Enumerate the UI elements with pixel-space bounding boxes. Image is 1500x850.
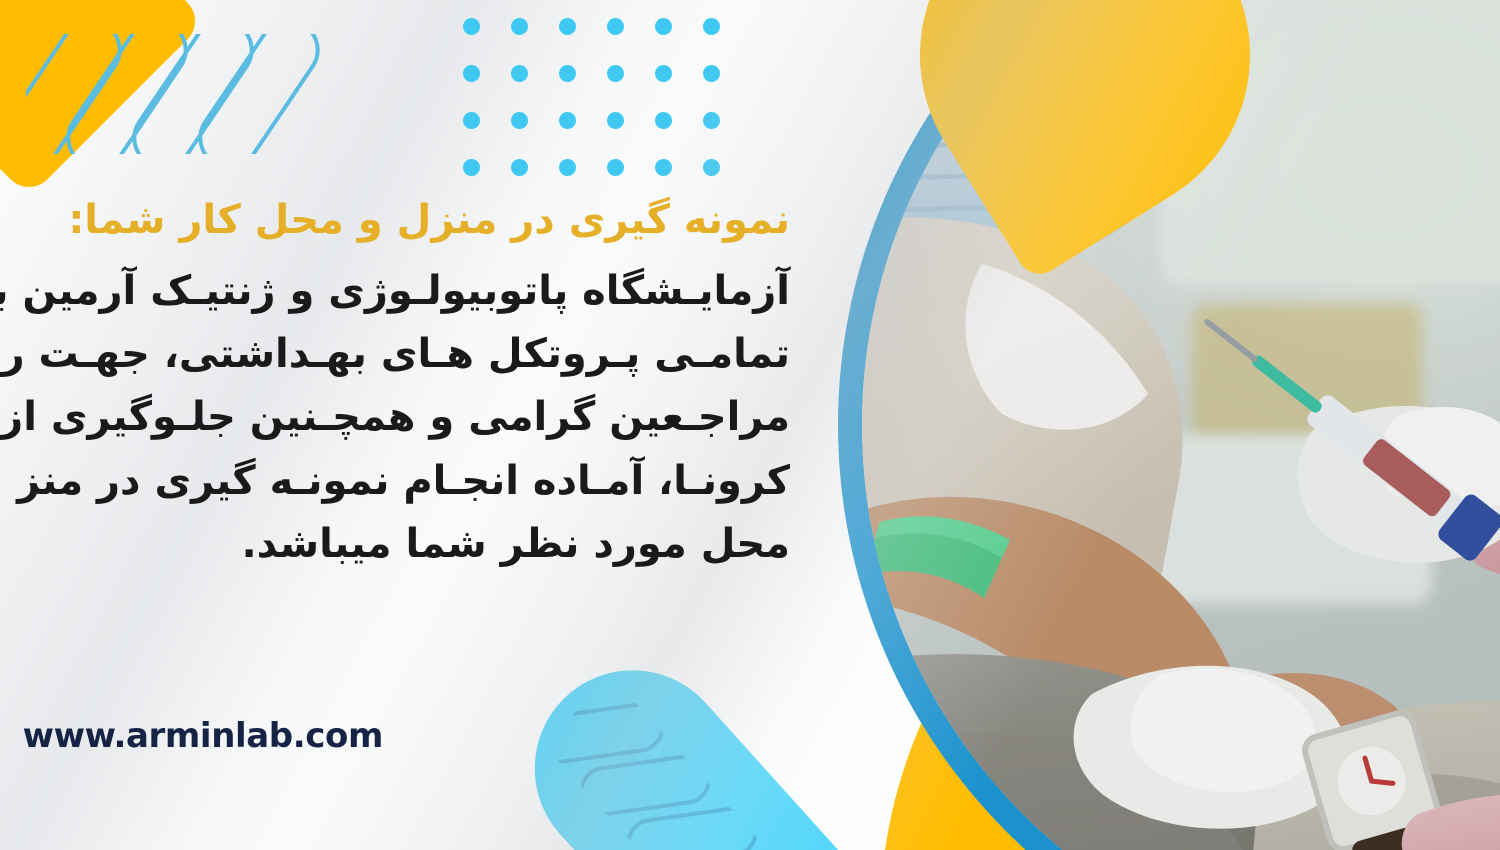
grid-dot bbox=[559, 159, 576, 176]
grid-dot bbox=[655, 159, 672, 176]
grid-dot bbox=[463, 65, 480, 82]
promo-banner: نمونه گیری در منزل و محل کار شما: آزمایـ… bbox=[0, 0, 1500, 850]
grid-dot bbox=[559, 18, 576, 35]
promo-text-block: نمونه گیری در منزل و محل کار شما: آزمایـ… bbox=[0, 196, 790, 576]
grid-dot bbox=[511, 18, 528, 35]
grid-dot bbox=[511, 65, 528, 82]
grid-dot bbox=[463, 159, 480, 176]
grid-dot bbox=[559, 112, 576, 129]
grid-dot bbox=[607, 65, 624, 82]
body-line: محل مورد نظر شما میباشد. bbox=[0, 513, 790, 576]
grid-dot bbox=[559, 65, 576, 82]
grid-dot bbox=[655, 18, 672, 35]
diagonal-stripes-outline-icon bbox=[542, 678, 834, 850]
dot-grid-pattern-icon bbox=[432, 18, 720, 206]
diagonal-stripes-outline-icon bbox=[26, 34, 326, 154]
grid-dot bbox=[607, 18, 624, 35]
body-line: مراجـعین گرامی و همچـنین جلـوگیری از bbox=[0, 386, 790, 449]
grid-dot bbox=[655, 65, 672, 82]
body-line: کرونـا، آمـاده انجـام نمونـه گیری در منز bbox=[0, 450, 790, 513]
grid-dot bbox=[607, 159, 624, 176]
grid-dot bbox=[655, 112, 672, 129]
grid-dot bbox=[703, 18, 720, 35]
body-line: تمامـی پـروتکل هـای بهـداشتی، جهـت رفـ bbox=[0, 323, 790, 386]
grid-dot bbox=[703, 65, 720, 82]
grid-dot bbox=[463, 18, 480, 35]
website-url[interactable]: www.arminlab.com bbox=[23, 716, 383, 756]
grid-dot bbox=[463, 112, 480, 129]
page-title: نمونه گیری در منزل و محل کار شما: bbox=[0, 196, 790, 244]
grid-dot bbox=[511, 159, 528, 176]
grid-dot bbox=[703, 159, 720, 176]
grid-dot bbox=[511, 112, 528, 129]
body-line: آزمایـشگاه پاتوبیولـوژی و ژنتیـک آرمین ب… bbox=[0, 260, 790, 323]
grid-dot bbox=[703, 112, 720, 129]
grid-dot bbox=[607, 112, 624, 129]
